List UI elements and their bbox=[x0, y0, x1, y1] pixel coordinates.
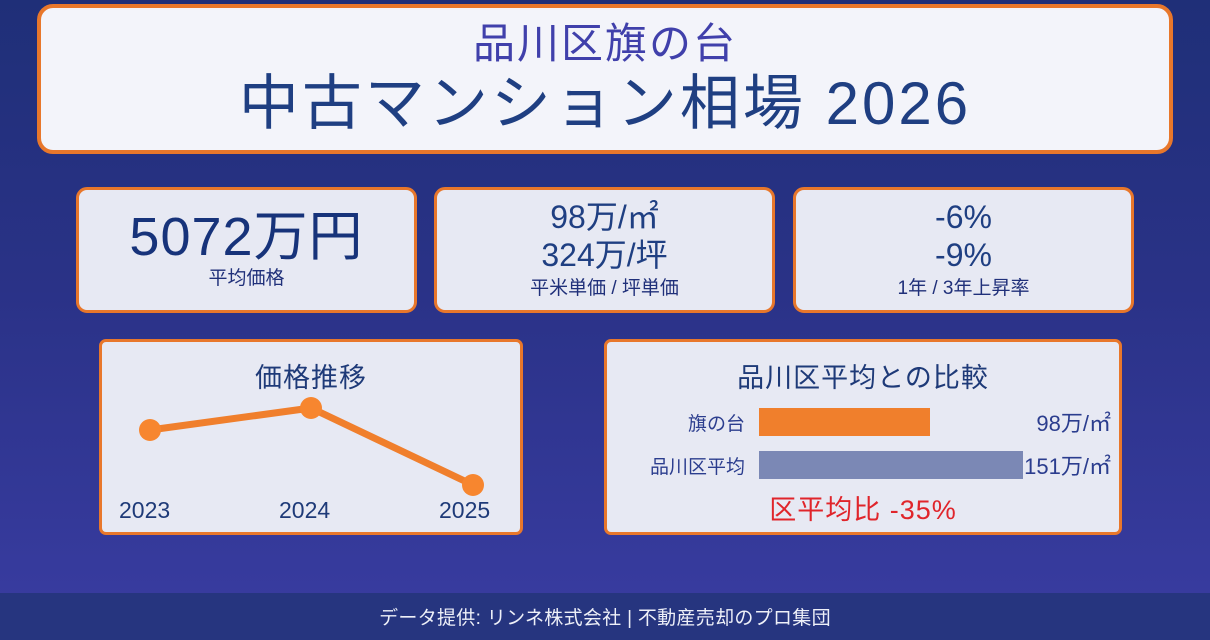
price-trend-xtick-2023: 2023 bbox=[119, 497, 170, 524]
growth-rate-1y: -6% bbox=[935, 199, 992, 237]
page-title: 中古マンション相場 2026 bbox=[239, 69, 971, 138]
price-trend-chart-card: 価格推移 2023 2024 2025 bbox=[99, 339, 523, 535]
comparison-label-ward-average: 品川区平均 bbox=[607, 452, 759, 479]
unit-price-label: 平米単価 / 坪単価 bbox=[530, 278, 679, 301]
growth-rate-3y: -9% bbox=[935, 237, 992, 275]
square-meter-unit: ㎡ bbox=[1089, 449, 1111, 481]
unit-price-per-sqm: 98万/㎡ bbox=[550, 199, 659, 237]
footer-band: データ提供: リンネ株式会社 | 不動産売却のプロ集団 bbox=[0, 593, 1210, 640]
comparison-row-ward-average: 品川区平均 151万/㎡ bbox=[607, 449, 1119, 481]
square-meter-unit: ㎡ bbox=[627, 199, 659, 235]
comparison-value-hatanodai-number: 98万/ bbox=[1036, 406, 1089, 438]
square-meter-unit: ㎡ bbox=[1089, 406, 1111, 438]
page-subtitle: 品川区旗の台 bbox=[473, 22, 737, 66]
stat-card-growth-rate: -6% -9% 1年 / 3年上昇率 bbox=[793, 187, 1134, 313]
average-price-value: 5072万円 bbox=[129, 209, 363, 265]
price-trend-xtick-2025: 2025 bbox=[439, 497, 490, 524]
price-trend-point-2024 bbox=[300, 397, 322, 419]
comparison-value-ward-average: 151万/㎡ bbox=[1024, 449, 1111, 481]
comparison-label-hatanodai: 旗の台 bbox=[607, 409, 759, 436]
comparison-value-ward-average-number: 151万/ bbox=[1024, 449, 1089, 481]
price-trend-point-2023 bbox=[139, 419, 161, 441]
comparison-track-hatanodai: 98万/㎡ bbox=[759, 406, 1119, 438]
price-trend-xtick-2024: 2024 bbox=[279, 497, 330, 524]
comparison-track-ward-average: 151万/㎡ bbox=[759, 449, 1119, 481]
price-trend-point-2025 bbox=[462, 474, 484, 496]
title-card: 品川区旗の台 中古マンション相場 2026 bbox=[37, 4, 1173, 154]
unit-price-per-tsubo: 324万/坪 bbox=[541, 237, 667, 275]
stat-card-average-price: 5072万円 平均価格 bbox=[76, 187, 417, 313]
growth-rate-label: 1年 / 3年上昇率 bbox=[898, 278, 1030, 301]
average-price-label: 平均価格 bbox=[208, 268, 284, 291]
ward-comparison-title: 品川区平均との比較 bbox=[607, 356, 1119, 395]
comparison-value-hatanodai: 98万/㎡ bbox=[1036, 406, 1111, 438]
comparison-bar-ward-average bbox=[759, 451, 1023, 479]
footer-credit: データ提供: リンネ株式会社 | 不動産売却のプロ集団 bbox=[379, 603, 831, 630]
price-trend-line bbox=[150, 408, 473, 485]
unit-price-per-sqm-number: 98万/ bbox=[550, 199, 627, 235]
stat-card-unit-price: 98万/㎡ 324万/坪 平米単価 / 坪単価 bbox=[434, 187, 775, 313]
comparison-bar-hatanodai bbox=[759, 408, 930, 436]
comparison-row-hatanodai: 旗の台 98万/㎡ bbox=[607, 406, 1119, 438]
ward-comparison-annotation: 区平均比 -35% bbox=[607, 488, 1119, 527]
ward-comparison-chart-card: 品川区平均との比較 旗の台 98万/㎡ 品川区平均 151万/㎡ 区平均比 -3… bbox=[604, 339, 1122, 535]
